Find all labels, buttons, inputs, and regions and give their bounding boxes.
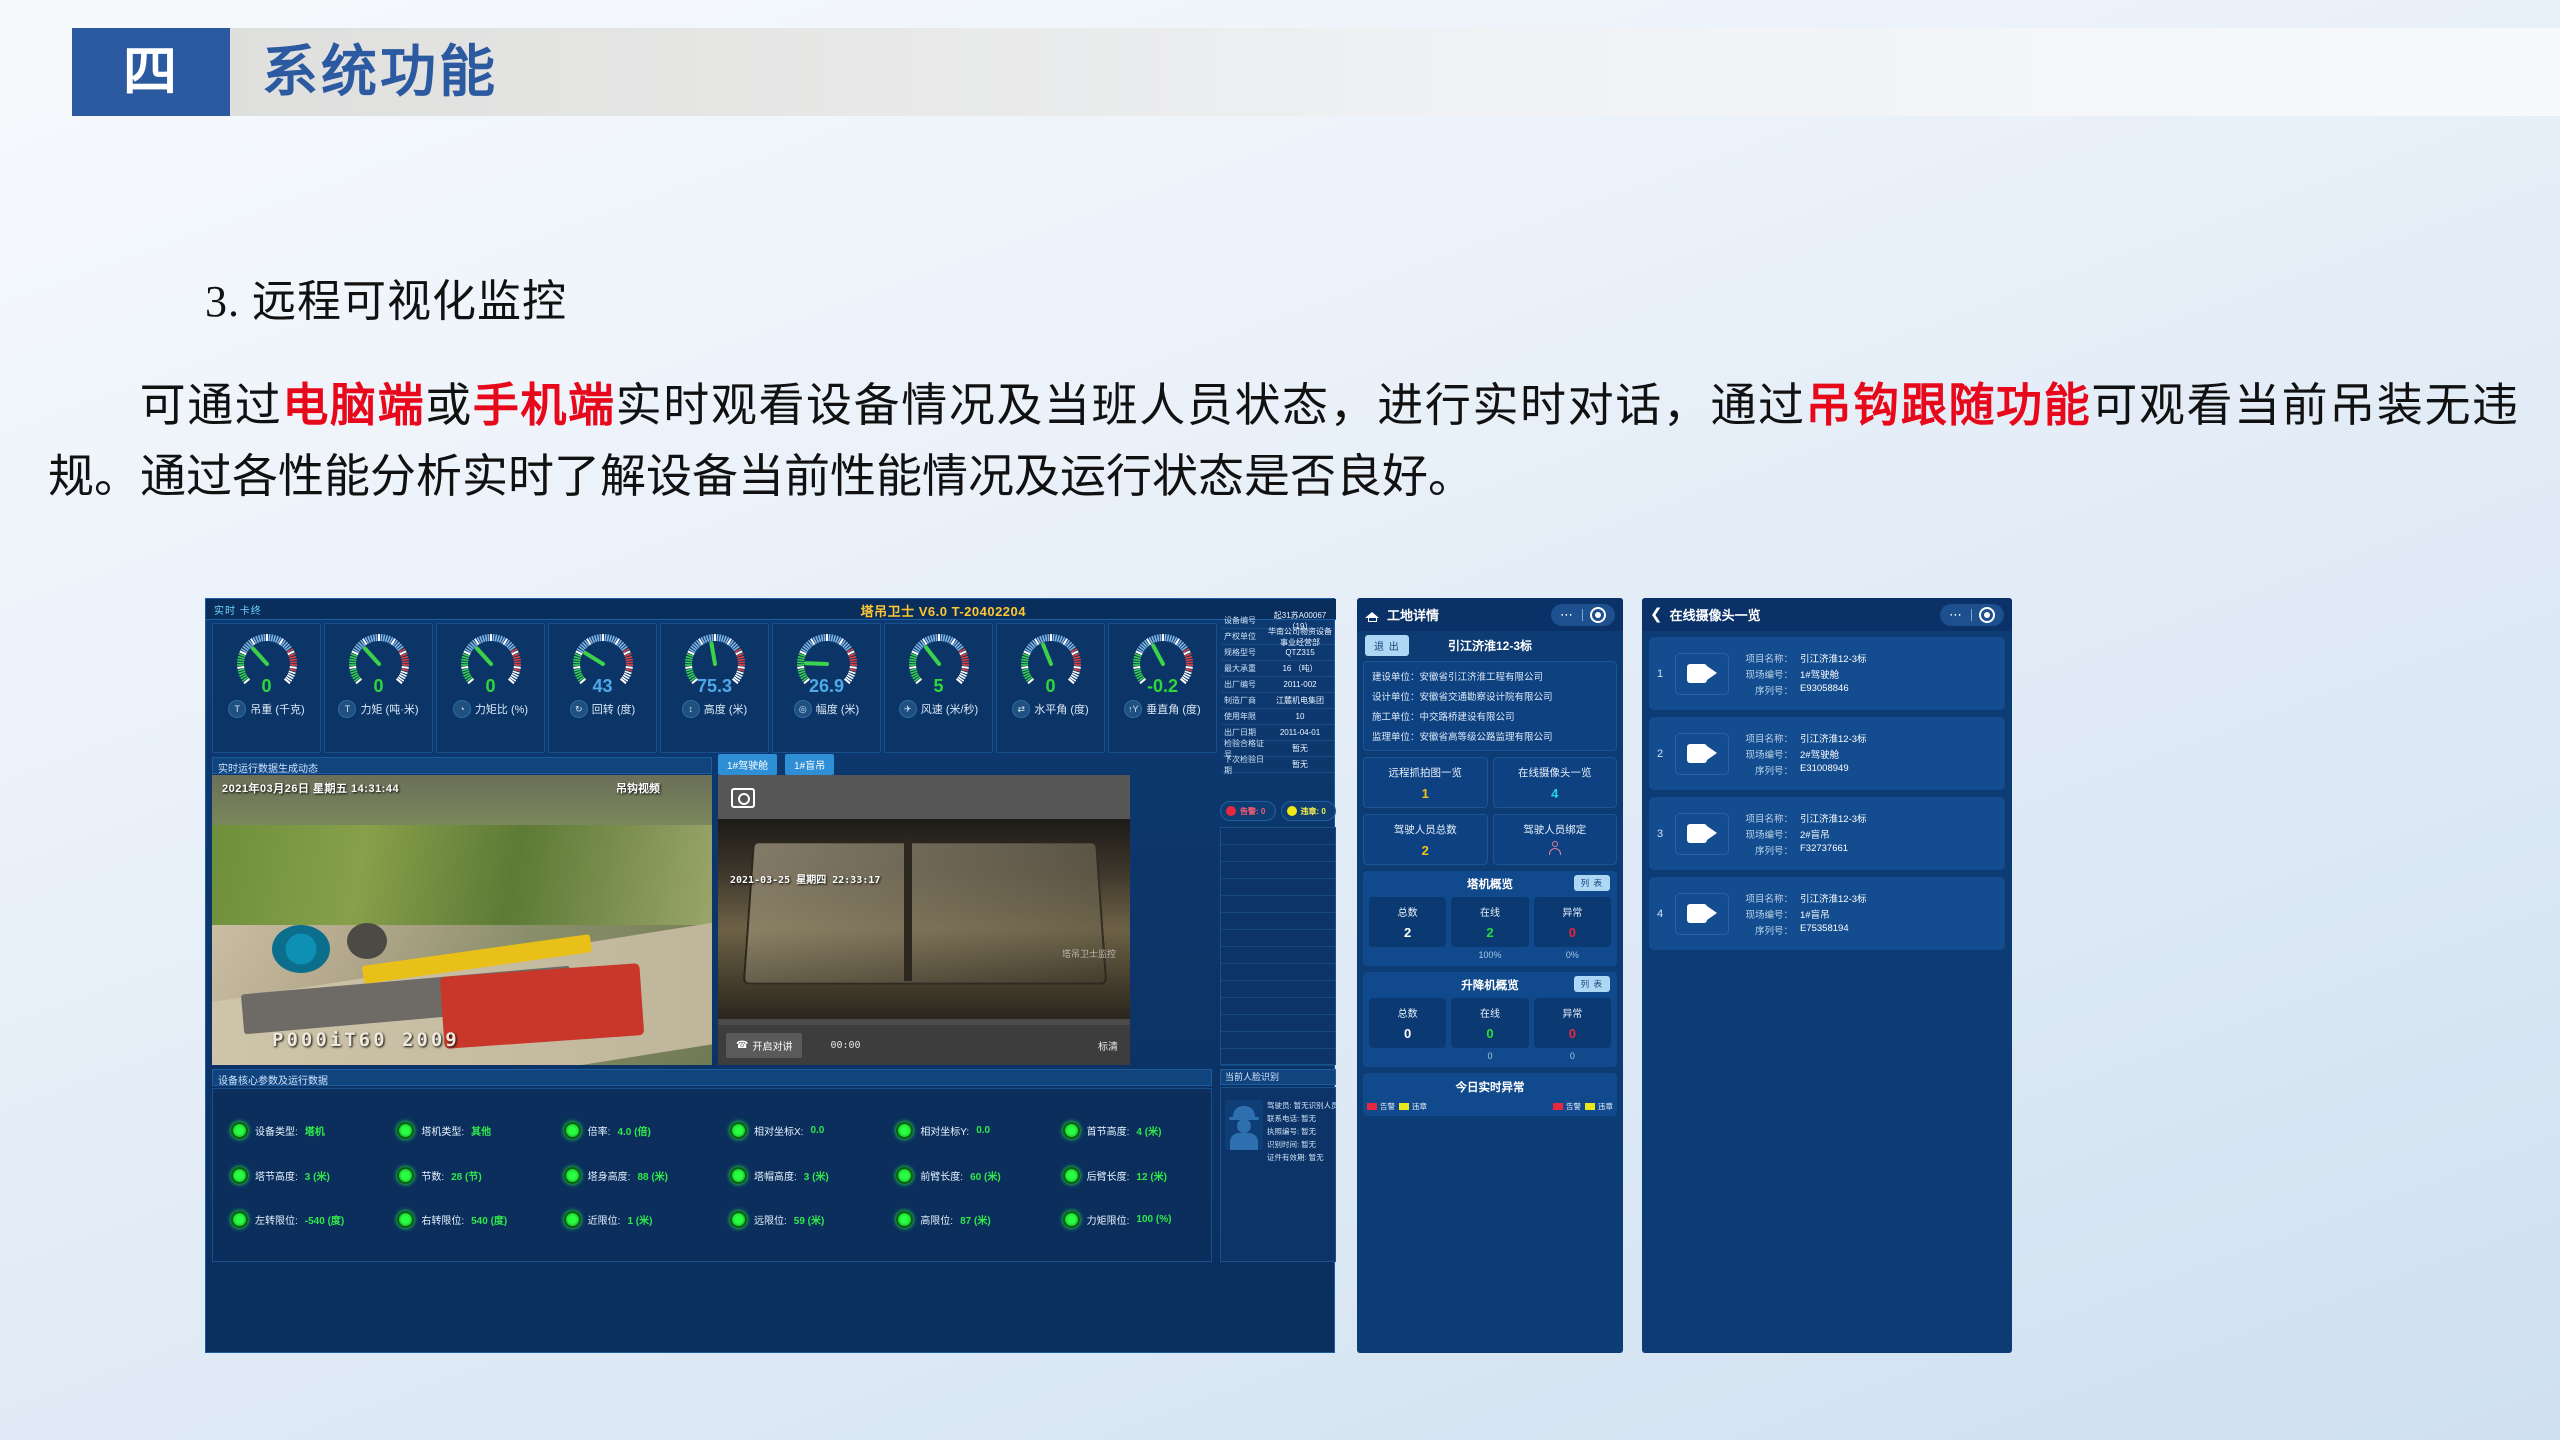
camera-project-label: 项目名称： bbox=[1737, 811, 1793, 825]
more-dots-icon[interactable]: ⋯ bbox=[1949, 611, 1964, 619]
spec-value: 暂无 bbox=[1266, 743, 1334, 754]
status-led-icon bbox=[564, 1167, 581, 1184]
weight-icon: T bbox=[228, 700, 246, 718]
para-highlight-pc: 电脑端 bbox=[282, 380, 425, 431]
spec-row: 产权单位华南公司物资设备事业经营部 bbox=[1222, 629, 1334, 645]
height-icon: ↕ bbox=[682, 700, 700, 718]
parameter-value: 0.0 bbox=[976, 1125, 990, 1136]
tower-overview-section: 塔机概览 列 表 总数2在线2异常0 100%0% bbox=[1363, 871, 1617, 966]
parameter-item: 相对坐标X:0.0 bbox=[712, 1122, 878, 1139]
overview-cell[interactable]: 在线2 bbox=[1451, 897, 1528, 947]
parameter-item: 右转限位:540 (度) bbox=[379, 1211, 545, 1228]
camera-serial-value: E31008949 bbox=[1800, 763, 1849, 777]
gauge-label: 幅度 (米) bbox=[816, 701, 859, 717]
pc-brand-title: 塔吊卫士 V6.0 T-20402204 bbox=[861, 601, 1026, 620]
slide-header-title: 系统功能 bbox=[262, 40, 498, 104]
parameter-item: 左转限位:-540 (度) bbox=[213, 1211, 379, 1228]
anomaly-legend: 告警违章告警违章 bbox=[1363, 1101, 1617, 1112]
today-anomaly-title: 今日实时异常 bbox=[1363, 1079, 1617, 1095]
parameter-item: 力矩限位:100 (%) bbox=[1045, 1211, 1211, 1228]
parameter-key: 后臂长度: bbox=[1087, 1168, 1130, 1183]
gauge-label: 风速 (米/秒) bbox=[921, 701, 978, 717]
parameter-value: 88 (米) bbox=[637, 1168, 668, 1183]
para-text-3: 实时观看设备情况及当班人员状态，进行实时对话，通过 bbox=[616, 380, 1806, 431]
camera-project-label: 项目名称： bbox=[1737, 891, 1793, 905]
close-target-icon[interactable] bbox=[1979, 607, 1995, 623]
overview-cell-percent bbox=[1369, 950, 1446, 960]
mini-program-capsule[interactable]: ⋯ bbox=[1551, 604, 1615, 626]
parameter-item: 前臂长度:60 (米) bbox=[878, 1167, 1044, 1184]
legend-item: 告警 bbox=[1553, 1101, 1581, 1112]
mini-program-capsule[interactable]: ⋯ bbox=[1940, 604, 2004, 626]
status-led-icon bbox=[231, 1167, 248, 1184]
gauge-dial bbox=[1014, 628, 1088, 690]
cab-camera-tabs: 1#驾驶舱1#盲吊 bbox=[718, 754, 834, 775]
status-led-icon bbox=[730, 1167, 747, 1184]
status-led-icon bbox=[231, 1211, 248, 1228]
camera-serial-value: E93058846 bbox=[1800, 683, 1849, 697]
cab-camera-video[interactable]: 2021-03-25 星期四 22:33:17 塔吊卫士监控 ☎ 开启对讲 00… bbox=[718, 775, 1130, 1065]
parameter-key: 前臂长度: bbox=[920, 1168, 963, 1183]
project-units-list: 建设单位：安徽省引江济淮工程有限公司设计单位：安徽省交通勘察设计院有限公司施工单… bbox=[1363, 661, 1617, 751]
camera-serial-value: F32737661 bbox=[1800, 843, 1848, 857]
parameter-value: 3 (米) bbox=[804, 1168, 829, 1183]
camera-serial-label: 序列号： bbox=[1737, 843, 1793, 857]
parameter-item: 塔身高度:88 (米) bbox=[546, 1167, 712, 1184]
stat-card[interactable]: 驾驶人员绑定 bbox=[1493, 814, 1618, 865]
live-video-header: 实时运行数据生成动态 bbox=[212, 757, 712, 774]
parameter-value: 其他 bbox=[471, 1123, 491, 1138]
video-quality-selector[interactable]: 标清 bbox=[1098, 1038, 1118, 1053]
camera-project-value: 引江济淮12-3标 bbox=[1800, 811, 1867, 825]
camera-index: 1 bbox=[1657, 668, 1671, 680]
video-timestamp: 2021年03月26日 星期五 14:31:44 bbox=[222, 780, 399, 796]
start-intercom-label: 开启对讲 bbox=[752, 1038, 792, 1053]
gauge-dial bbox=[342, 628, 416, 690]
phone-icon: ☎ bbox=[736, 1040, 748, 1051]
gauge-footer: ⇄水平角 (度) bbox=[1012, 700, 1088, 718]
spec-key: 下次检验日期 bbox=[1222, 754, 1266, 776]
parameter-value: 4 (米) bbox=[1136, 1123, 1161, 1138]
spec-row: 最大承重16 （吨） bbox=[1222, 661, 1334, 677]
parameter-key: 塔身高度: bbox=[588, 1168, 631, 1183]
legend-label: 违章 bbox=[1412, 1101, 1427, 1112]
status-led-icon bbox=[1063, 1167, 1080, 1184]
parameter-value: 塔机 bbox=[305, 1123, 325, 1138]
spec-value: 10 bbox=[1266, 712, 1334, 721]
cab-video-frame: 2021-03-25 星期四 22:33:17 塔吊卫士监控 bbox=[718, 819, 1130, 1019]
gauge-dial bbox=[1126, 628, 1200, 690]
status-led-icon bbox=[730, 1211, 747, 1228]
gauge-footer: ✈风速 (米/秒) bbox=[899, 700, 978, 718]
camera-list: 1项目名称：引江济淮12-3标现场编号：1#驾驶舱序列号：E930588462项… bbox=[1642, 631, 2012, 950]
stat-card[interactable]: 驾驶人员总数2 bbox=[1363, 814, 1488, 865]
legend-label: 违章 bbox=[1598, 1101, 1613, 1112]
face-field: 驾驶员: 暂无识别人员 bbox=[1267, 1100, 1339, 1111]
today-anomaly-section: 今日实时异常 告警违章告警违章 bbox=[1363, 1073, 1617, 1116]
spec-value: 江麓机电集团 bbox=[1266, 695, 1334, 706]
camera-project-value: 引江济淮12-3标 bbox=[1800, 891, 1867, 905]
status-led-icon bbox=[1063, 1211, 1080, 1228]
parameter-item: 高限位:87 (米) bbox=[878, 1211, 1044, 1228]
gauge-dial bbox=[790, 628, 864, 690]
overview-cell[interactable]: 异常0 bbox=[1534, 897, 1611, 947]
spec-key: 最大承重 bbox=[1222, 663, 1266, 674]
legend-label: 告警 bbox=[1566, 1101, 1581, 1112]
face-recognition-panel: 驾驶员: 暂无识别人员联系电话: 暂无执照编号: 暂无识别时间: 暂无证件有效期… bbox=[1220, 1087, 1336, 1262]
overview-cell-value: 0 bbox=[1534, 925, 1611, 940]
video-camera-icon[interactable] bbox=[1675, 893, 1729, 935]
parameter-item: 远限位:59 (米) bbox=[712, 1211, 878, 1228]
start-intercom-button[interactable]: ☎ 开启对讲 bbox=[726, 1033, 802, 1058]
video-camera-icon[interactable] bbox=[1675, 653, 1729, 695]
person-bind-icon bbox=[1548, 841, 1562, 856]
lift-list-button[interactable]: 列 表 bbox=[1574, 976, 1610, 992]
gauge-dial bbox=[230, 628, 304, 690]
camera-project-value: 引江济淮12-3标 bbox=[1800, 731, 1867, 745]
pc-dashboard: 实时 卡终 塔吊卫士 V6.0 T-20402204 0T吊重 (千克) 0T力… bbox=[205, 598, 1335, 1353]
parameter-item: 倍率:4.0 (倍) bbox=[546, 1122, 712, 1139]
mobile-camera-titlebar: ❮ 在线摄像头一览 ⋯ bbox=[1642, 598, 2012, 631]
screenshots-group: 实时 卡终 塔吊卫士 V6.0 T-20402204 0T吊重 (千克) 0T力… bbox=[205, 598, 2450, 1353]
legend-group: 告警违章 bbox=[1367, 1101, 1490, 1112]
video-camera-icon[interactable] bbox=[1675, 733, 1729, 775]
legend-group: 告警违章 bbox=[1490, 1101, 1613, 1112]
chapter-badge: 四 bbox=[72, 28, 230, 116]
camera-fields: 项目名称：引江济淮12-3标现场编号：2#驾驶舱序列号：E31008949 bbox=[1737, 731, 1867, 777]
parameter-key: 塔机类型: bbox=[421, 1123, 464, 1138]
parameter-key: 节数: bbox=[421, 1168, 444, 1183]
overview-cell-value: 2 bbox=[1451, 925, 1528, 940]
gauge-2: 0T力矩 (吨·米) bbox=[324, 623, 433, 753]
project-unit-line: 设计单位：安徽省交通勘察设计院有限公司 bbox=[1372, 689, 1608, 703]
legend-label: 告警 bbox=[1380, 1101, 1395, 1112]
legend-swatch bbox=[1585, 1103, 1595, 1110]
status-led-icon bbox=[397, 1211, 414, 1228]
camera-index: 2 bbox=[1657, 748, 1671, 760]
tower-overview-cells: 总数2在线2异常0 bbox=[1363, 897, 1617, 947]
spec-row: 使用年限10 bbox=[1222, 709, 1334, 725]
overview-cell[interactable]: 总数2 bbox=[1369, 897, 1446, 947]
stat-card[interactable]: 在线摄像头一览4 bbox=[1493, 757, 1618, 808]
parameter-key: 设备类型: bbox=[255, 1123, 298, 1138]
alarm-label: 违章: 0 bbox=[1301, 806, 1326, 817]
overview-cell-label: 总数 bbox=[1369, 904, 1446, 919]
more-dots-icon[interactable]: ⋯ bbox=[1560, 611, 1575, 619]
pc-topbar-left-text: 实时 卡终 bbox=[214, 602, 262, 617]
overview-cell[interactable]: 异常0 bbox=[1534, 998, 1611, 1048]
gauge-dial bbox=[902, 628, 976, 690]
parameter-item: 相对坐标Y:0.0 bbox=[878, 1122, 1044, 1139]
mobile-camera-title: 在线摄像头一览 bbox=[1670, 605, 1761, 624]
camera-site-label: 现场编号： bbox=[1737, 667, 1793, 681]
spec-key: 出厂日期 bbox=[1222, 727, 1266, 738]
legend-item: 告警 bbox=[1367, 1101, 1395, 1112]
spec-row: 制造厂商江麓机电集团 bbox=[1222, 693, 1334, 709]
camera-site-label: 现场编号： bbox=[1737, 907, 1793, 921]
gauge-1: 0T吊重 (千克) bbox=[212, 623, 321, 753]
gauge-footer: T吊重 (千克) bbox=[228, 700, 304, 718]
cab-video-watermark: 塔吊卫士监控 bbox=[1062, 947, 1116, 960]
ratio-icon: ◔ bbox=[453, 700, 471, 718]
cab-video-toolbar bbox=[718, 775, 1130, 819]
camera-site-value: 1#驾驶舱 bbox=[1800, 667, 1839, 681]
level-icon: ⇄ bbox=[1012, 700, 1030, 718]
gauge-label: 力矩比 (%) bbox=[475, 701, 528, 717]
alarm-label: 告警: 0 bbox=[1240, 806, 1265, 817]
parameter-value: 28 (节) bbox=[451, 1168, 482, 1183]
parameter-item: 后臂长度:12 (米) bbox=[1045, 1167, 1211, 1184]
parameter-value: 0.0 bbox=[810, 1125, 824, 1136]
spec-row: 下次检验日期暂无 bbox=[1222, 757, 1334, 773]
para-text-1: 可通过 bbox=[138, 380, 282, 431]
status-led-icon bbox=[896, 1211, 913, 1228]
gauge-6: 26.9◎幅度 (米) bbox=[772, 623, 881, 753]
gauge-footer: ↕高度 (米) bbox=[682, 700, 747, 718]
parameter-item: 塔机类型:其他 bbox=[379, 1122, 545, 1139]
mobile-site-subheader: 退 出 引江济淮12-3标 bbox=[1357, 631, 1623, 659]
camera-fields: 项目名称：引江济淮12-3标现场编号：1#盲吊序列号：E75358194 bbox=[1737, 891, 1867, 937]
mobile-site-titlebar: 工地详情 ⋯ bbox=[1357, 598, 1623, 631]
parameter-key: 相对坐标Y: bbox=[920, 1123, 969, 1138]
spec-value: 2011-002 bbox=[1266, 680, 1334, 689]
gauge-footer: ↻回转 (度) bbox=[570, 700, 635, 718]
cab-tab-1[interactable]: 1#驾驶舱 bbox=[718, 754, 777, 775]
stat-card-label: 远程抓拍图一览 bbox=[1364, 765, 1487, 780]
parameter-item: 首节高度:4 (米) bbox=[1045, 1122, 1211, 1139]
worker-avatar-icon bbox=[1225, 1100, 1263, 1150]
spec-value: 暂无 bbox=[1266, 759, 1334, 770]
face-field: 执照编号: 暂无 bbox=[1267, 1126, 1339, 1137]
overview-cell-percent: 0 bbox=[1451, 1051, 1528, 1061]
camera-serial-label: 序列号： bbox=[1737, 683, 1793, 697]
gauge-dial bbox=[678, 628, 752, 690]
spec-value: QTZ315 bbox=[1266, 648, 1334, 657]
legend-swatch bbox=[1553, 1103, 1563, 1110]
parameter-value: 60 (米) bbox=[970, 1168, 1001, 1183]
para-highlight-hook: 吊钩跟随功能 bbox=[1806, 380, 2092, 431]
video-watermark: P000iT60 2009 bbox=[272, 1029, 460, 1051]
parameter-item: 近限位:1 (米) bbox=[546, 1211, 712, 1228]
gauge-footer: ◔力矩比 (%) bbox=[453, 700, 528, 718]
camera-list-item[interactable]: 2项目名称：引江济淮12-3标现场编号：2#驾驶舱序列号：E31008949 bbox=[1649, 717, 2005, 790]
overview-cell[interactable]: 总数0 bbox=[1369, 998, 1446, 1048]
parameter-key: 倍率: bbox=[588, 1123, 611, 1138]
parameter-item: 塔节高度:3 (米) bbox=[213, 1167, 379, 1184]
gauge-5: 75.3↕高度 (米) bbox=[660, 623, 769, 753]
right-side-filler-panel bbox=[1220, 827, 1336, 1065]
para-text-2: 或 bbox=[425, 380, 473, 431]
project-unit-line: 施工单位：中交路桥建设有限公司 bbox=[1372, 709, 1608, 723]
parameter-value: 4.0 (倍) bbox=[617, 1123, 650, 1138]
overview-cell-percent: 100% bbox=[1451, 950, 1528, 960]
camera-serial-label: 序列号： bbox=[1737, 923, 1793, 937]
spec-value: 16 （吨） bbox=[1266, 663, 1334, 674]
face-field: 联系电话: 暂无 bbox=[1267, 1113, 1339, 1124]
gauge-8: 0⇄水平角 (度) bbox=[996, 623, 1105, 753]
tower-list-button[interactable]: 列 表 bbox=[1574, 875, 1610, 891]
video-tag-label: 吊钩视频 bbox=[616, 780, 660, 796]
parameter-key: 塔帽高度: bbox=[754, 1168, 797, 1183]
parameter-key: 相对坐标X: bbox=[754, 1123, 803, 1138]
parameter-value: 1 (米) bbox=[627, 1212, 652, 1227]
parameter-item: 设备类型:塔机 bbox=[213, 1122, 379, 1139]
stat-card-value: 1 bbox=[1364, 786, 1487, 801]
gauge-label: 高度 (米) bbox=[704, 701, 747, 717]
parameter-row: 塔节高度:3 (米)节数:28 (节)塔身高度:88 (米)塔帽高度:3 (米)… bbox=[213, 1167, 1211, 1184]
overview-cell-value: 0 bbox=[1534, 1026, 1611, 1041]
parameter-value: 59 (米) bbox=[794, 1212, 825, 1227]
equipment-spec-table: 设备编号起31苏A00067（19）产权单位华南公司物资设备事业经营部规格型号Q… bbox=[1222, 613, 1334, 773]
cab-video-timestamp: 2021-03-25 星期四 22:33:17 bbox=[730, 871, 880, 886]
camera-site-value: 1#盲吊 bbox=[1800, 907, 1830, 921]
vertical-icon: ↑Y bbox=[1124, 700, 1142, 718]
parameter-key: 远限位: bbox=[754, 1212, 787, 1227]
parameter-key: 右转限位: bbox=[421, 1212, 464, 1227]
camera-fields: 项目名称：引江济淮12-3标现场编号：2#盲吊序列号：F32737661 bbox=[1737, 811, 1867, 857]
spec-row: 出厂编号2011-002 bbox=[1222, 677, 1334, 693]
status-dot bbox=[1226, 806, 1236, 816]
parameter-value: 3 (米) bbox=[305, 1168, 330, 1183]
snapshot-camera-icon[interactable] bbox=[731, 788, 755, 808]
status-led-icon bbox=[397, 1122, 414, 1139]
camera-site-label: 现场编号： bbox=[1737, 827, 1793, 841]
mobile-site-title: 工地详情 bbox=[1387, 605, 1439, 624]
overview-cell-label: 总数 bbox=[1369, 1005, 1446, 1020]
legend-swatch bbox=[1399, 1103, 1409, 1110]
video-camera-icon[interactable] bbox=[1675, 813, 1729, 855]
gauge-row: 0T吊重 (千克) 0T力矩 (吨·米) 0◔力矩比 (%) 43↻回转 (度)… bbox=[212, 623, 1217, 753]
spec-key: 制造厂商 bbox=[1222, 695, 1266, 706]
status-led-icon bbox=[564, 1122, 581, 1139]
parameter-item: 节数:28 (节) bbox=[379, 1167, 545, 1184]
overview-cell-value: 2 bbox=[1369, 925, 1446, 940]
parameter-row: 左转限位:-540 (度)右转限位:540 (度)近限位:1 (米)远限位:59… bbox=[213, 1211, 1211, 1228]
section-title: 3. 远程可视化监控 bbox=[205, 265, 567, 329]
stat-card[interactable]: 远程抓拍图一览1 bbox=[1363, 757, 1488, 808]
status-led-icon bbox=[564, 1211, 581, 1228]
parameter-value: 87 (米) bbox=[960, 1212, 991, 1227]
overview-cell[interactable]: 在线0 bbox=[1451, 998, 1528, 1048]
overview-cell-label: 异常 bbox=[1534, 904, 1611, 919]
cab-tab-2[interactable]: 1#盲吊 bbox=[785, 754, 834, 775]
face-field: 证件有效期: 暂无 bbox=[1267, 1152, 1339, 1163]
alarm-summary-row: 告警: 0违章: 0 bbox=[1220, 801, 1336, 821]
chapter-number: 四 bbox=[123, 45, 179, 99]
overview-cell-percent: 0% bbox=[1534, 950, 1611, 960]
camera-project-value: 引江济淮12-3标 bbox=[1800, 651, 1867, 665]
stat-card-label: 驾驶人员绑定 bbox=[1494, 822, 1617, 837]
camera-project-label: 项目名称： bbox=[1737, 651, 1793, 665]
radius-icon: ◎ bbox=[794, 700, 812, 718]
camera-index: 4 bbox=[1657, 908, 1671, 920]
status-led-icon bbox=[231, 1122, 248, 1139]
project-unit-line: 监理单位：安徽省高等级公路监理有限公司 bbox=[1372, 729, 1608, 743]
wind-icon: ✈ bbox=[899, 700, 917, 718]
overview-cell-label: 异常 bbox=[1534, 1005, 1611, 1020]
gauge-7: 5✈风速 (米/秒) bbox=[884, 623, 993, 753]
hook-camera-video[interactable]: 2021年03月26日 星期五 14:31:44 吊钩视频 P000iT60 2… bbox=[212, 775, 712, 1065]
parameter-key: 首节高度: bbox=[1087, 1123, 1130, 1138]
status-dot bbox=[1287, 806, 1297, 816]
close-target-icon[interactable] bbox=[1590, 607, 1606, 623]
camera-serial-value: E75358194 bbox=[1800, 923, 1849, 937]
parameter-item: 塔帽高度:3 (米) bbox=[712, 1167, 878, 1184]
home-icon[interactable] bbox=[1365, 608, 1380, 622]
status-led-icon bbox=[397, 1167, 414, 1184]
spec-key: 出厂编号 bbox=[1222, 679, 1266, 690]
back-chevron-icon[interactable]: ❮ bbox=[1650, 608, 1663, 622]
camera-site-label: 现场编号： bbox=[1737, 747, 1793, 761]
slide-header: 四 系统功能 bbox=[0, 28, 2560, 116]
stat-card-label: 驾驶人员总数 bbox=[1364, 822, 1487, 837]
face-recognition-fields: 驾驶员: 暂无识别人员联系电话: 暂无执照编号: 暂无识别时间: 暂无证件有效期… bbox=[1267, 1100, 1339, 1261]
parameter-value: 540 (度) bbox=[471, 1212, 507, 1227]
parameter-key: 近限位: bbox=[588, 1212, 621, 1227]
gauge-label: 垂直角 (度) bbox=[1146, 701, 1200, 717]
spec-key: 规格型号 bbox=[1222, 647, 1266, 658]
cab-video-controls: ☎ 开启对讲 00:00 标清 bbox=[718, 1025, 1130, 1065]
stat-card-value: 2 bbox=[1364, 843, 1487, 858]
gauge-footer: ◎幅度 (米) bbox=[794, 700, 859, 718]
stat-card-value: 4 bbox=[1494, 786, 1617, 801]
spec-value: 2011-04-01 bbox=[1266, 728, 1334, 737]
intercom-timer: 00:00 bbox=[830, 1040, 860, 1051]
mobile-site-detail-app: 工地详情 ⋯ 退 出 引江济淮12-3标 建设单位：安徽省引江济淮工程有限公司设… bbox=[1357, 598, 1623, 1353]
camera-list-item[interactable]: 4项目名称：引江济淮12-3标现场编号：1#盲吊序列号：E75358194 bbox=[1649, 877, 2005, 950]
gauge-4: 43↻回转 (度) bbox=[548, 623, 657, 753]
gauge-footer: T力矩 (吨·米) bbox=[338, 700, 418, 718]
spec-key: 产权单位 bbox=[1222, 631, 1266, 642]
camera-site-value: 2#驾驶舱 bbox=[1800, 747, 1839, 761]
header-banner bbox=[230, 28, 2560, 116]
core-parameters-header: 设备核心参数及运行数据 bbox=[212, 1069, 1212, 1086]
gauge-3: 0◔力矩比 (%) bbox=[436, 623, 545, 753]
face-field: 识别时间: 暂无 bbox=[1267, 1139, 1339, 1150]
spec-key: 使用年限 bbox=[1222, 711, 1266, 722]
camera-list-item[interactable]: 3项目名称：引江济淮12-3标现场编号：2#盲吊序列号：F32737661 bbox=[1649, 797, 2005, 870]
alarm-pill[interactable]: 违章: 0 bbox=[1281, 801, 1337, 821]
parameter-row: 设备类型:塔机塔机类型:其他倍率:4.0 (倍)相对坐标X:0.0相对坐标Y:0… bbox=[213, 1122, 1211, 1139]
spec-value: 华南公司物资设备事业经营部 bbox=[1266, 626, 1334, 648]
overview-cell-percent: 0 bbox=[1534, 1051, 1611, 1061]
camera-site-value: 2#盲吊 bbox=[1800, 827, 1830, 841]
face-recognition-header: 当前人脸识别 bbox=[1220, 1069, 1336, 1085]
parameter-value: -540 (度) bbox=[305, 1212, 344, 1227]
legend-swatch bbox=[1367, 1103, 1377, 1110]
overview-cell-label: 在线 bbox=[1451, 1005, 1528, 1020]
status-led-icon bbox=[730, 1122, 747, 1139]
overview-cell-value: 0 bbox=[1369, 1026, 1446, 1041]
stat-card-label: 在线摄像头一览 bbox=[1494, 765, 1617, 780]
gauge-label: 回转 (度) bbox=[592, 701, 635, 717]
gauge-dial bbox=[566, 628, 640, 690]
torque-icon: T bbox=[338, 700, 356, 718]
para-highlight-mobile: 手机端 bbox=[473, 380, 616, 431]
alarm-pill[interactable]: 告警: 0 bbox=[1220, 801, 1276, 821]
camera-project-label: 项目名称： bbox=[1737, 731, 1793, 745]
tower-overview-percents: 100%0% bbox=[1363, 947, 1617, 960]
parameter-value: 12 (米) bbox=[1136, 1168, 1167, 1183]
camera-index: 3 bbox=[1657, 828, 1671, 840]
camera-fields: 项目名称：引江济淮12-3标现场编号：1#驾驶舱序列号：E93058846 bbox=[1737, 651, 1867, 697]
body-paragraph: 可通过电脑端或手机端实时观看设备情况及当班人员状态，进行实时对话，通过吊钩跟随功… bbox=[48, 370, 2518, 513]
camera-list-item[interactable]: 1项目名称：引江济淮12-3标现场编号：1#驾驶舱序列号：E93058846 bbox=[1649, 637, 2005, 710]
core-parameters-panel: 设备类型:塔机塔机类型:其他倍率:4.0 (倍)相对坐标X:0.0相对坐标Y:0… bbox=[212, 1088, 1212, 1262]
lift-overview-section: 升降机概览 列 表 总数0在线0异常0 00 bbox=[1363, 972, 1617, 1067]
gauge-label: 吊重 (千克) bbox=[250, 701, 304, 717]
parameter-key: 塔节高度: bbox=[255, 1168, 298, 1183]
